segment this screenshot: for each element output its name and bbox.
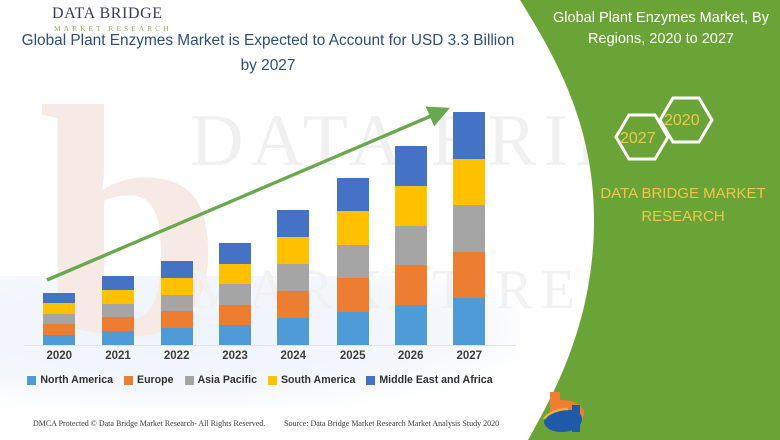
bar-segment xyxy=(219,305,251,326)
legend-item: South America xyxy=(268,374,355,386)
bar-segment xyxy=(161,311,193,328)
x-axis-label-2027: 2027 xyxy=(439,350,499,362)
bar-segment xyxy=(395,186,427,226)
legend-swatch xyxy=(366,376,375,385)
bar-2027 xyxy=(453,112,485,345)
bar-2025 xyxy=(337,178,369,345)
bar-segment xyxy=(219,264,251,285)
legend-item: Asia Pacific xyxy=(185,374,257,386)
bar-segment xyxy=(102,276,134,290)
bar-segment xyxy=(395,265,427,305)
legend-label: South America xyxy=(281,374,355,386)
legend-item: Europe xyxy=(124,374,174,386)
data-bridge-logo-icon xyxy=(536,388,716,434)
bar-segment xyxy=(43,314,75,324)
x-axis-label-2024: 2024 xyxy=(263,350,323,362)
x-axis-label-2025: 2025 xyxy=(323,350,383,362)
bar-segment xyxy=(453,298,485,345)
bar-segment xyxy=(161,278,193,295)
bar-2023 xyxy=(219,243,251,345)
bar-segment xyxy=(277,264,309,291)
bar-segment xyxy=(395,146,427,186)
hexagon-2020-label: 2020 xyxy=(664,112,700,130)
bar-segment xyxy=(337,245,369,278)
bar-segment xyxy=(395,226,427,266)
bar-segment xyxy=(43,293,75,303)
legend-item: Middle East and Africa xyxy=(366,374,492,386)
logo-wordmark: DATA BRIDGE xyxy=(52,5,163,23)
bar-segment xyxy=(453,205,485,252)
bar-2026 xyxy=(395,146,427,345)
bar-segment xyxy=(337,278,369,311)
x-axis-label-2022: 2022 xyxy=(147,350,207,362)
legend-swatch xyxy=(185,376,194,385)
legend-item: North America xyxy=(27,374,113,386)
infographic-root: b DATA BRIDGE MARKET RESEARCH Global Pla… xyxy=(0,0,780,440)
hexagon-2027-label: 2027 xyxy=(620,130,656,148)
legend-swatch xyxy=(27,376,36,385)
x-axis-label-2023: 2023 xyxy=(205,350,265,362)
panel-brand-line2: RESEARCH xyxy=(641,208,724,225)
bar-segment xyxy=(102,331,134,345)
legend-swatch xyxy=(268,376,277,385)
bar-segment xyxy=(453,112,485,159)
bar-2020 xyxy=(43,293,75,345)
bar-segment xyxy=(102,317,134,331)
footer-dmca: DMCA Protected © Data Bridge Market Rese… xyxy=(33,419,265,428)
bar-segment xyxy=(161,295,193,312)
chart-plot-area: 20202021202220232024202520262027 xyxy=(0,0,520,370)
bar-segment xyxy=(102,290,134,304)
x-axis-label-2021: 2021 xyxy=(88,350,148,362)
bar-segment xyxy=(161,261,193,278)
bar-segment xyxy=(102,304,134,318)
bar-segment xyxy=(219,284,251,305)
bar-segment xyxy=(219,325,251,346)
bar-segment xyxy=(453,252,485,299)
bar-segment xyxy=(337,178,369,211)
hexagon-pair xyxy=(596,92,736,182)
x-axis-line xyxy=(24,345,516,346)
legend-label: Asia Pacific xyxy=(198,374,257,386)
bar-segment xyxy=(219,243,251,264)
legend-label: North America xyxy=(40,374,113,386)
bar-segment xyxy=(277,291,309,318)
bar-segment xyxy=(43,335,75,345)
legend-label: Middle East and Africa xyxy=(379,374,492,386)
bar-segment xyxy=(453,159,485,206)
bar-segment xyxy=(43,324,75,334)
legend-swatch xyxy=(124,376,133,385)
logo-tagline: MARKET RESEARCH xyxy=(54,24,172,33)
growth-arrow-icon xyxy=(0,0,520,370)
legend-label: Europe xyxy=(137,374,174,386)
bar-segment xyxy=(43,303,75,313)
bar-segment xyxy=(277,318,309,345)
bar-segment xyxy=(277,210,309,237)
bar-segment xyxy=(395,305,427,345)
chart-legend: North AmericaEuropeAsia PacificSouth Ame… xyxy=(0,374,520,386)
bar-2024 xyxy=(277,210,309,345)
bar-segment xyxy=(161,328,193,345)
panel-brand: DATA BRIDGE MARKET RESEARCH xyxy=(588,182,778,228)
bar-2021 xyxy=(102,276,134,345)
panel-title: Global Plant Enzymes Market, By Regions,… xyxy=(548,8,774,50)
x-axis-label-2026: 2026 xyxy=(381,350,441,362)
bar-segment xyxy=(337,312,369,345)
bar-segment xyxy=(277,237,309,264)
footer-source: Source: Data Bridge Market Research Mark… xyxy=(284,419,499,428)
x-axis-label-2020: 2020 xyxy=(29,350,89,362)
bar-segment xyxy=(337,211,369,244)
panel-brand-line1: DATA BRIDGE MARKET xyxy=(600,185,765,202)
bar-2022 xyxy=(161,261,193,345)
